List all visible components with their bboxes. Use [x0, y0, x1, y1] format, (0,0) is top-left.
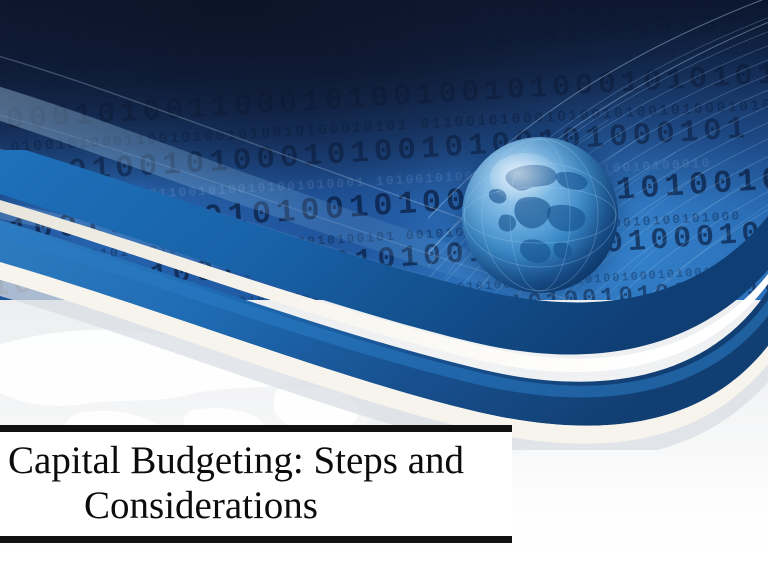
blue-wave-ribbon-divider: [0, 150, 768, 450]
title-rule-top: [0, 425, 512, 432]
slide-title-block: Capital Budgeting: Steps and Considerati…: [0, 425, 512, 545]
page-title: Capital Budgeting: Steps and Considerati…: [0, 432, 512, 536]
presentation-slide: 01101001011000101001001010011010101010 1…: [0, 0, 768, 561]
title-rule-bottom: [0, 536, 512, 543]
title-line-2: Considerations: [4, 483, 508, 528]
title-line-1: Capital Budgeting: Steps and: [4, 438, 508, 483]
